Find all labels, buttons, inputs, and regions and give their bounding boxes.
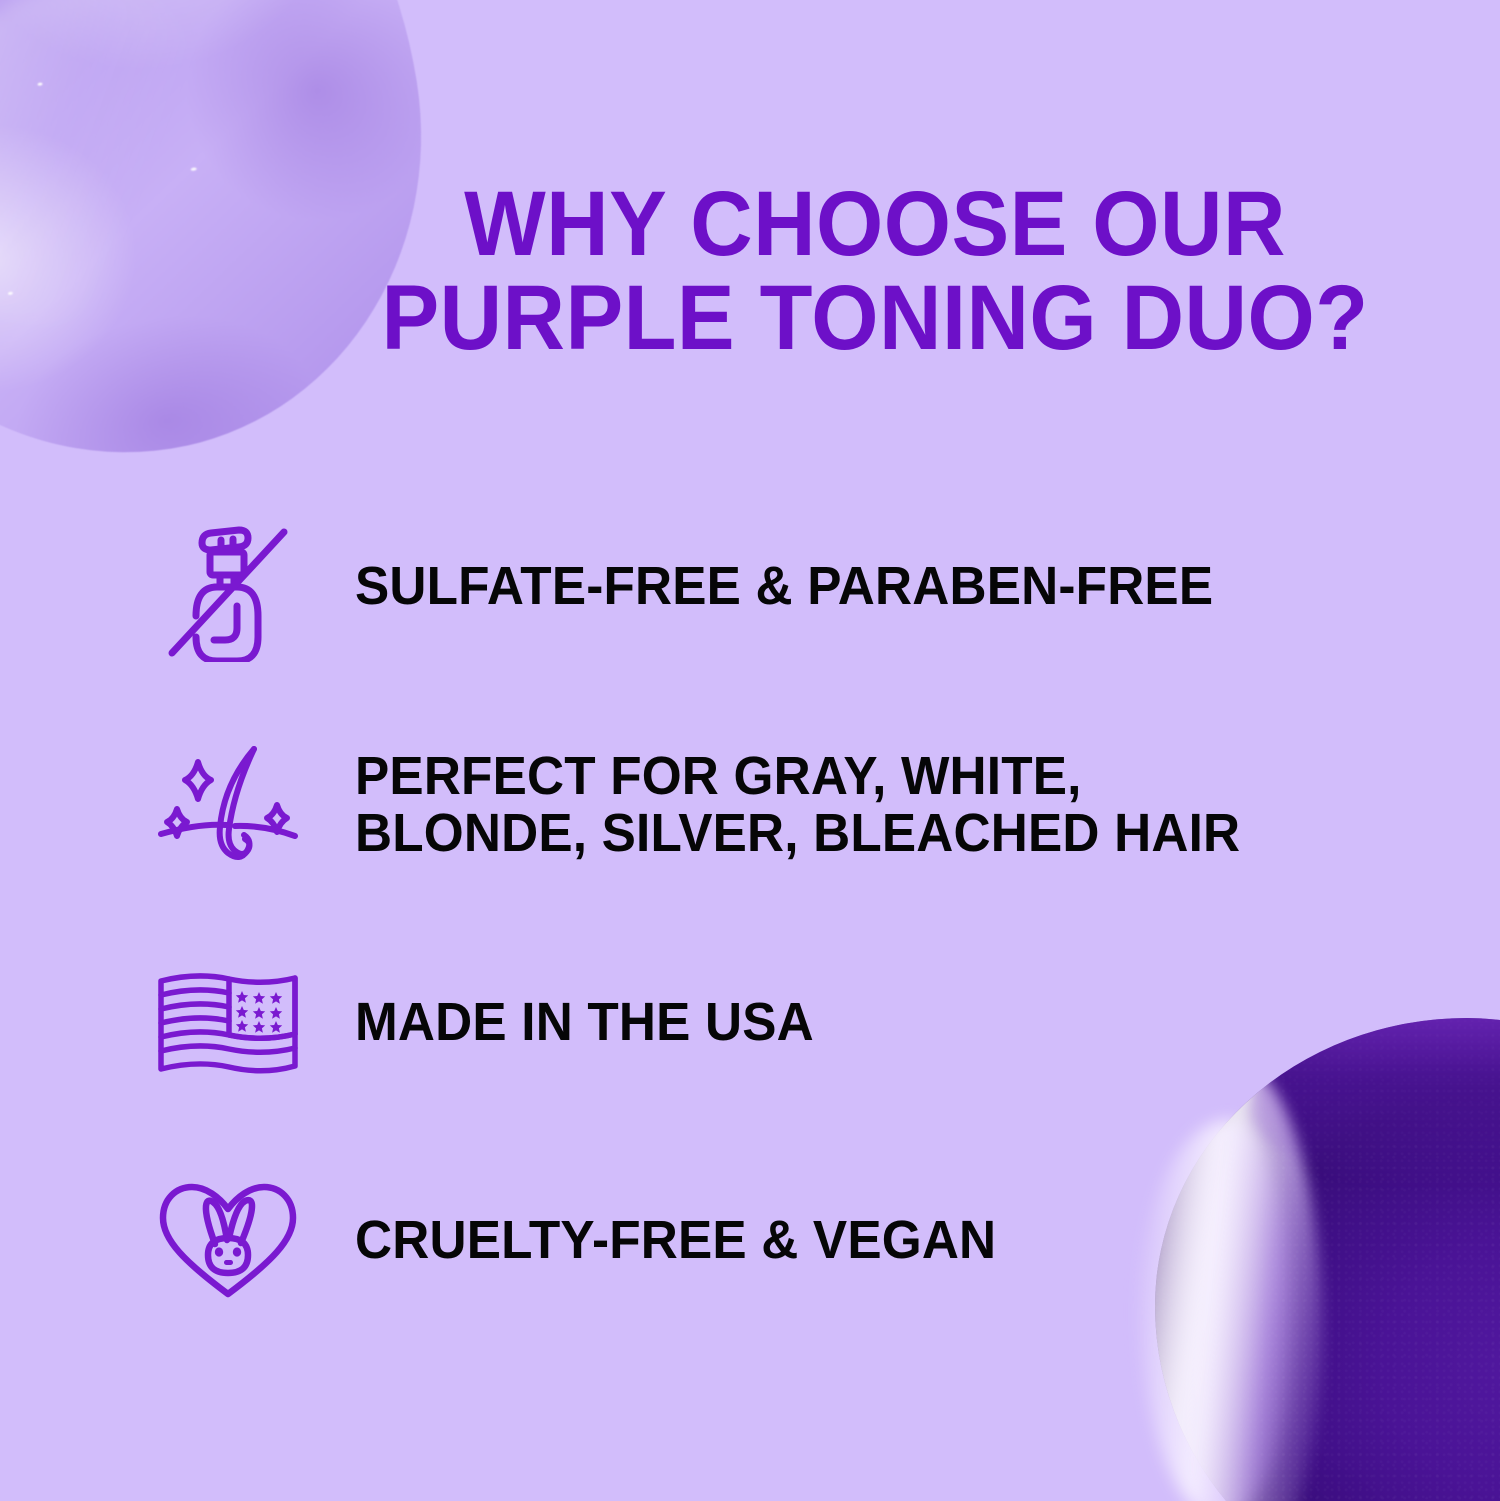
infographic-canvas: WHY CHOOSE OUR PURPLE TONING DUO? SULFAT…	[0, 0, 1500, 1501]
feature-item-hair-types: PERFECT FOR GRAY, WHITE, BLONDE, SILVER,…	[0, 696, 1500, 914]
feature-list: SULFATE-FREE & PARABEN-FREE PERFECT FOR …	[0, 478, 1500, 1350]
feature-label-made-in-usa: MADE IN THE USA	[355, 994, 814, 1051]
feature-label-line-1: CRUELTY-FREE & VEGAN	[355, 1212, 996, 1269]
feature-item-sulfate-free: SULFATE-FREE & PARABEN-FREE	[0, 478, 1500, 696]
feature-label-line-1: MADE IN THE USA	[355, 994, 814, 1051]
feature-label-line-1: SULFATE-FREE & PARABEN-FREE	[355, 558, 1213, 615]
swatch-highlight-fold	[0, 0, 186, 143]
cruelty-free-bunny-heart-icon	[148, 1178, 308, 1304]
feature-label-sulfate-free: SULFATE-FREE & PARABEN-FREE	[355, 558, 1213, 615]
feature-label-hair-types: PERFECT FOR GRAY, WHITE, BLONDE, SILVER,…	[355, 748, 1240, 862]
shiny-hair-strand-icon	[148, 735, 308, 875]
no-sulfate-bottle-icon	[148, 512, 308, 662]
swatch-sparkle	[190, 168, 196, 172]
feature-label-cruelty-free: CRUELTY-FREE & VEGAN	[355, 1212, 996, 1269]
feature-item-cruelty-free: CRUELTY-FREE & VEGAN	[0, 1132, 1500, 1350]
usa-flag-icon	[148, 967, 308, 1079]
swatch-sparkle	[37, 83, 42, 87]
feature-label-line-2: BLONDE, SILVER, BLEACHED HAIR	[355, 805, 1240, 862]
page-title: WHY CHOOSE OUR PURPLE TONING DUO?	[335, 178, 1416, 366]
page-title-line-1: WHY CHOOSE OUR	[335, 178, 1416, 272]
feature-label-line-1: PERFECT FOR GRAY, WHITE,	[355, 748, 1240, 805]
feature-item-made-in-usa: MADE IN THE USA	[0, 914, 1500, 1132]
swatch-sparkle	[7, 292, 12, 296]
page-title-line-2: PURPLE TONING DUO?	[335, 272, 1416, 366]
